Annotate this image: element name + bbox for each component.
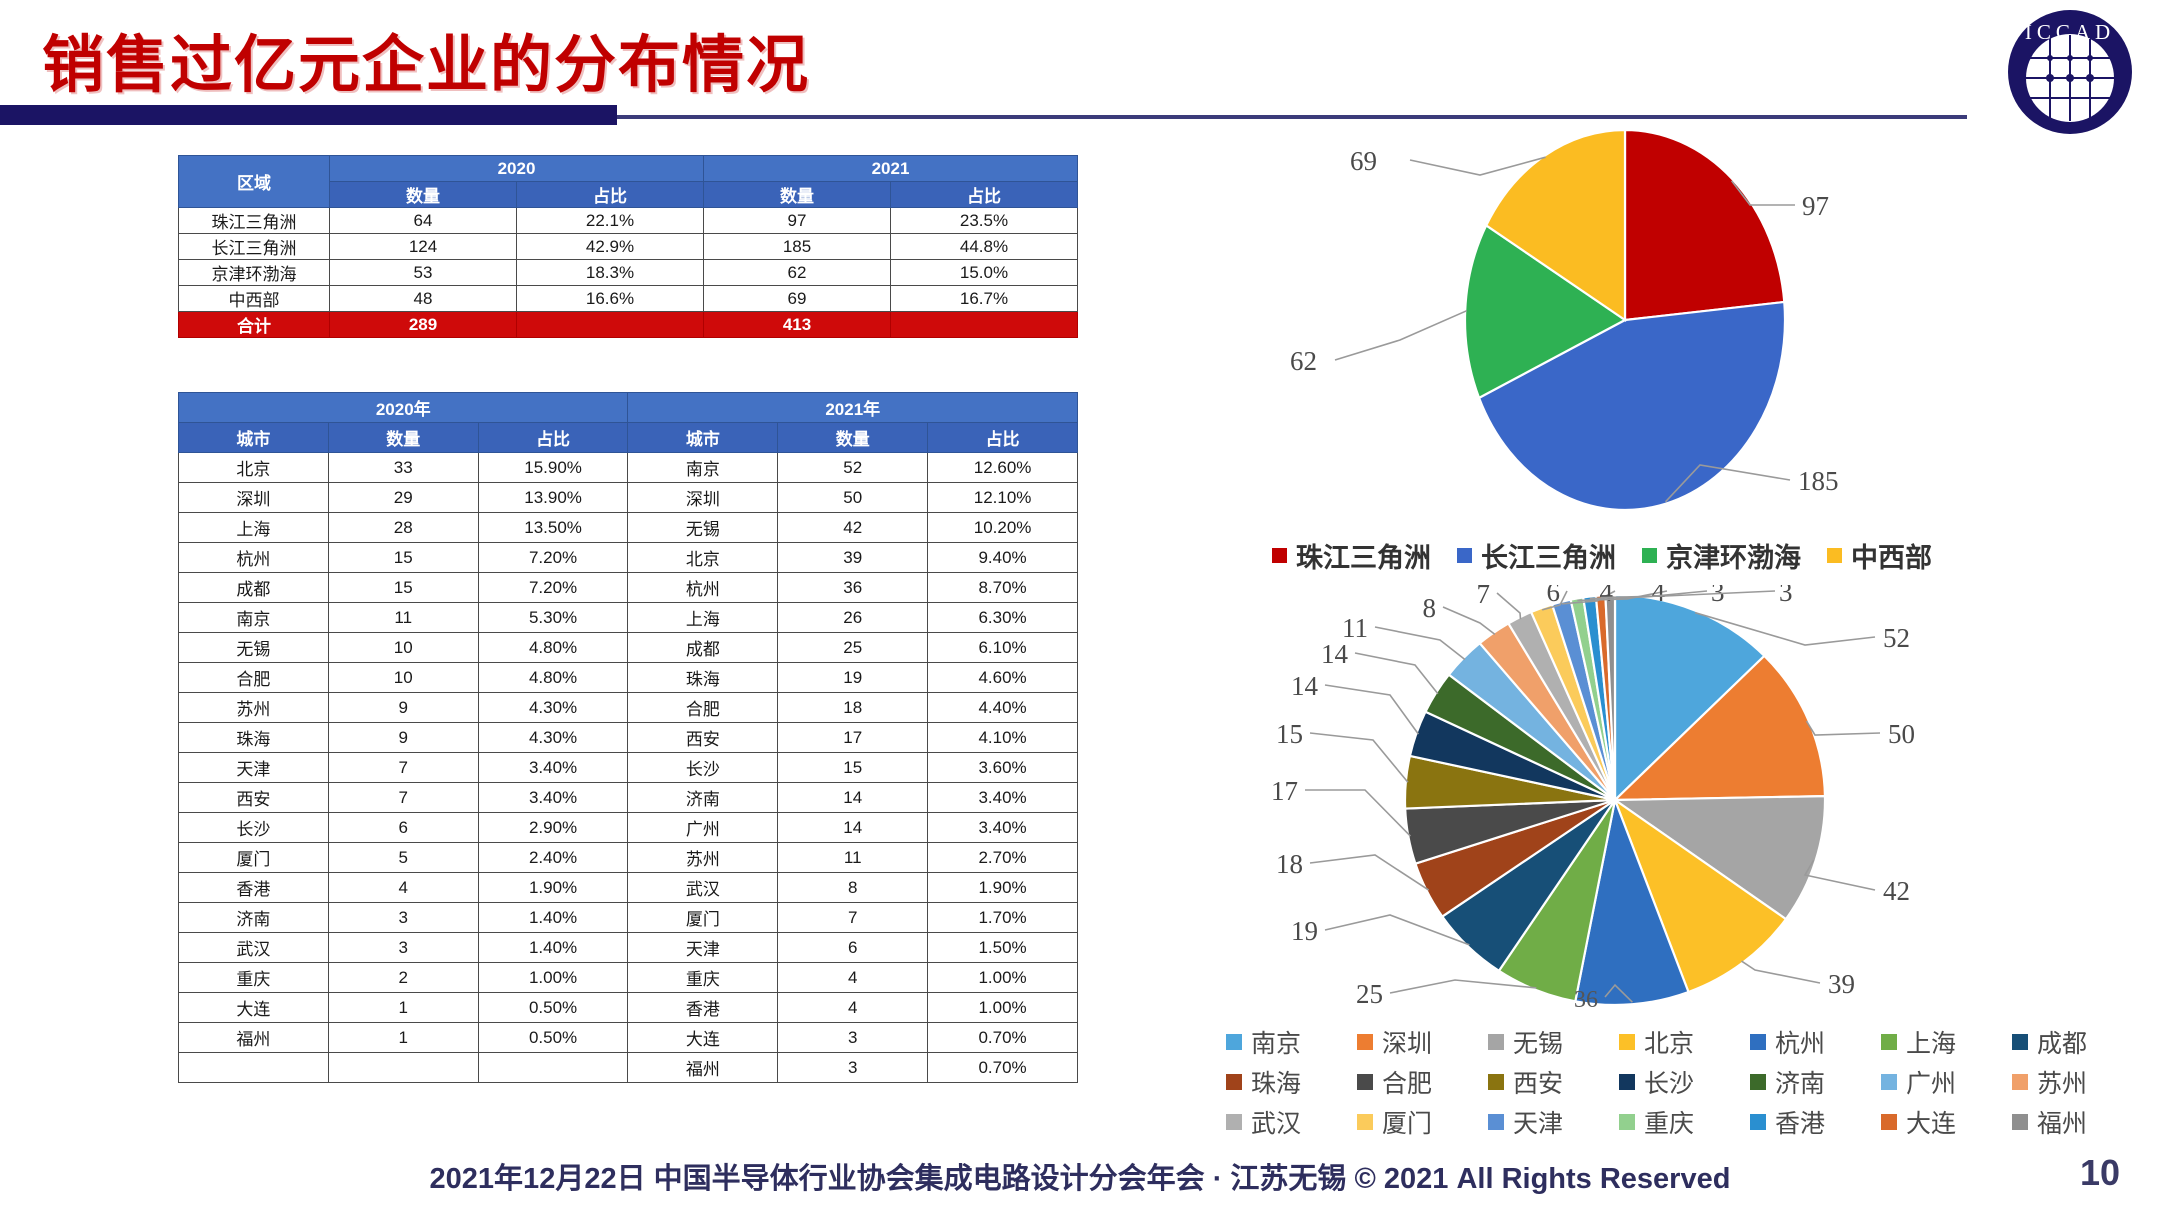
share-2020: 4.80% xyxy=(478,633,628,663)
legend-swatch-icon xyxy=(1357,1034,1373,1050)
legend-label: 成都 xyxy=(2037,1024,2087,1060)
city-2021: 西安 xyxy=(628,723,778,753)
svg-text:ICCAD: ICCAD xyxy=(2025,20,2115,44)
city-2020: 无锡 xyxy=(179,633,329,663)
table-row: 合肥104.80%珠海194.60% xyxy=(179,663,1078,693)
total-count-2020: 289 xyxy=(330,312,517,338)
table-row: 深圳2913.90%深圳5012.10% xyxy=(179,483,1078,513)
legend-label: 武汉 xyxy=(1251,1104,1301,1140)
share-2020: 2.40% xyxy=(478,843,628,873)
legend-label: 厦门 xyxy=(1382,1104,1432,1140)
region-pie-chart: 971856269 xyxy=(1230,125,2030,525)
city-2020: 香港 xyxy=(179,873,329,903)
count-2020: 64 xyxy=(330,208,517,234)
share-2020: 2.90% xyxy=(478,813,628,843)
share-2020: 15.90% xyxy=(478,453,628,483)
share-2021: 3.40% xyxy=(928,783,1078,813)
city-2020: 杭州 xyxy=(179,543,329,573)
share-2021: 1.00% xyxy=(928,993,1078,1023)
count-2021: 25 xyxy=(778,633,928,663)
city-2021: 成都 xyxy=(628,633,778,663)
table-row: 济南31.40%厦门71.70% xyxy=(179,903,1078,933)
city-2020: 厦门 xyxy=(179,843,329,873)
pie-data-label: 14 xyxy=(1321,639,1349,669)
pie-data-label: 11 xyxy=(1342,613,1368,643)
legend-item[interactable]: 京津环渤海 xyxy=(1642,536,1801,575)
legend-label: 大连 xyxy=(1906,1104,1956,1140)
count-2020: 10 xyxy=(328,663,478,693)
legend-label: 济南 xyxy=(1775,1064,1825,1100)
city-2021: 杭州 xyxy=(628,573,778,603)
legend-item[interactable]: 广州 xyxy=(1881,1064,2012,1100)
header-share-2020: 占比 xyxy=(517,182,704,208)
share-2021: 2.70% xyxy=(928,843,1078,873)
legend-swatch-icon xyxy=(1827,548,1842,563)
count-2021: 62 xyxy=(704,260,891,286)
total-share-2020 xyxy=(517,312,704,338)
pie-data-label: 69 xyxy=(1350,146,1377,176)
iccad-logo: ICCAD xyxy=(2004,6,2136,138)
count-2020: 7 xyxy=(328,783,478,813)
header-share-2020: 占比 xyxy=(478,423,628,453)
legend-item[interactable]: 珠江三角洲 xyxy=(1272,536,1431,575)
city-2021: 香港 xyxy=(628,993,778,1023)
legend-swatch-icon xyxy=(1488,1034,1504,1050)
legend-item[interactable]: 南京 xyxy=(1226,1024,1357,1060)
legend-item[interactable]: 武汉 xyxy=(1226,1104,1357,1140)
city-2020: 长沙 xyxy=(179,813,329,843)
total-count-2021: 413 xyxy=(704,312,891,338)
legend-label: 杭州 xyxy=(1775,1024,1825,1060)
city-2020 xyxy=(179,1053,329,1083)
city-2021: 大连 xyxy=(628,1023,778,1053)
legend-swatch-icon xyxy=(1750,1074,1766,1090)
legend-label: 重庆 xyxy=(1644,1104,1694,1140)
count-2020: 15 xyxy=(328,573,478,603)
legend-swatch-icon xyxy=(1457,548,1472,563)
city-2021: 珠海 xyxy=(628,663,778,693)
legend-item[interactable]: 苏州 xyxy=(2012,1064,2143,1100)
share-2021: 23.5% xyxy=(891,208,1078,234)
share-2021: 9.40% xyxy=(928,543,1078,573)
city-2021: 南京 xyxy=(628,453,778,483)
table-row: 杭州157.20%北京399.40% xyxy=(179,543,1078,573)
pie-slice[interactable] xyxy=(1625,130,1784,320)
table-row: 珠海94.30%西安174.10% xyxy=(179,723,1078,753)
legend-label: 长江三角洲 xyxy=(1481,536,1616,575)
city-2020: 珠海 xyxy=(179,723,329,753)
header-count-2021: 数量 xyxy=(778,423,928,453)
table-row: 厦门52.40%苏州112.70% xyxy=(179,843,1078,873)
count-2021: 19 xyxy=(778,663,928,693)
share-2020: 1.90% xyxy=(478,873,628,903)
legend-label: 珠海 xyxy=(1251,1064,1301,1100)
city-2021: 上海 xyxy=(628,603,778,633)
table-row-total: 合计 289 413 xyxy=(179,312,1078,338)
legend-swatch-icon xyxy=(1272,548,1287,563)
count-2020: 9 xyxy=(328,723,478,753)
count-2021: 3 xyxy=(778,1053,928,1083)
pie-data-label: 25 xyxy=(1356,979,1383,1009)
header-year-2021: 2021 xyxy=(704,156,1078,182)
city-2021: 长沙 xyxy=(628,753,778,783)
legend-swatch-icon xyxy=(1881,1074,1897,1090)
share-2021: 0.70% xyxy=(928,1053,1078,1083)
legend-swatch-icon xyxy=(1357,1074,1373,1090)
city-2020: 合肥 xyxy=(179,663,329,693)
count-2020: 4 xyxy=(328,873,478,903)
header-share-2021: 占比 xyxy=(891,182,1078,208)
count-2021: 4 xyxy=(778,963,928,993)
share-2021: 44.8% xyxy=(891,234,1078,260)
legend-label: 无锡 xyxy=(1513,1024,1563,1060)
city-2020: 上海 xyxy=(179,513,329,543)
pie-data-label: 19 xyxy=(1291,916,1318,946)
pie-data-label: 185 xyxy=(1798,466,1839,496)
city-2021: 济南 xyxy=(628,783,778,813)
share-2020: 0.50% xyxy=(478,993,628,1023)
share-2021: 4.40% xyxy=(928,693,1078,723)
legend-item[interactable]: 北京 xyxy=(1619,1024,1750,1060)
legend-item[interactable]: 珠海 xyxy=(1226,1064,1357,1100)
legend-swatch-icon xyxy=(1750,1034,1766,1050)
city-2020: 天津 xyxy=(179,753,329,783)
count-2021: 42 xyxy=(778,513,928,543)
legend-swatch-icon xyxy=(1619,1074,1635,1090)
pie-data-label: 15 xyxy=(1276,719,1303,749)
legend-label: 苏州 xyxy=(2037,1064,2087,1100)
count-2020: 28 xyxy=(328,513,478,543)
count-2020: 48 xyxy=(330,286,517,312)
legend-item[interactable]: 厦门 xyxy=(1357,1104,1488,1140)
share-2020: 7.20% xyxy=(478,573,628,603)
count-2020: 6 xyxy=(328,813,478,843)
count-2021: 3 xyxy=(778,1023,928,1053)
share-2020 xyxy=(478,1053,628,1083)
share-2020: 22.1% xyxy=(517,208,704,234)
pie-data-label: 4 xyxy=(1600,585,1614,607)
share-2021: 12.60% xyxy=(928,453,1078,483)
count-2020: 7 xyxy=(328,753,478,783)
region-name: 长江三角洲 xyxy=(179,234,330,260)
table-row: 成都157.20%杭州368.70% xyxy=(179,573,1078,603)
region-name: 珠江三角洲 xyxy=(179,208,330,234)
legend-swatch-icon xyxy=(1619,1034,1635,1050)
city-2020: 济南 xyxy=(179,903,329,933)
city-2020: 大连 xyxy=(179,993,329,1023)
table-row: 大连10.50%香港41.00% xyxy=(179,993,1078,1023)
share-2020: 13.90% xyxy=(478,483,628,513)
table-row: 武汉31.40%天津61.50% xyxy=(179,933,1078,963)
header-city-2021: 城市 xyxy=(628,423,778,453)
share-2021: 10.20% xyxy=(928,513,1078,543)
header-city-2020: 城市 xyxy=(179,423,329,453)
city-2021: 无锡 xyxy=(628,513,778,543)
city-2020: 苏州 xyxy=(179,693,329,723)
table-row: 福州30.70% xyxy=(179,1053,1078,1083)
table-row: 长沙62.90%广州143.40% xyxy=(179,813,1078,843)
city-distribution-table: 2020年 2021年 城市 数量 占比 城市 数量 占比 北京3315.90%… xyxy=(178,392,1078,1083)
share-2020: 42.9% xyxy=(517,234,704,260)
pie-data-label: 3 xyxy=(1779,585,1793,607)
legend-swatch-icon xyxy=(1226,1074,1242,1090)
count-2020: 10 xyxy=(328,633,478,663)
share-2020: 1.40% xyxy=(478,933,628,963)
header-region: 区域 xyxy=(179,156,330,208)
table-row: 无锡104.80%成都256.10% xyxy=(179,633,1078,663)
pie-data-label: 7 xyxy=(1477,585,1491,609)
pie-data-label: 18 xyxy=(1276,849,1303,879)
legend-item[interactable]: 中西部 xyxy=(1827,536,1932,575)
table-row: 香港41.90%武汉81.90% xyxy=(179,873,1078,903)
legend-item[interactable]: 长沙 xyxy=(1619,1064,1750,1100)
share-2020: 3.40% xyxy=(478,753,628,783)
city-2020: 重庆 xyxy=(179,963,329,993)
count-2021: 50 xyxy=(778,483,928,513)
table-subheader-row: 城市 数量 占比 城市 数量 占比 xyxy=(179,423,1078,453)
share-2021: 8.70% xyxy=(928,573,1078,603)
page-number: 10 xyxy=(2080,1152,2120,1194)
footer-text: 2021年12月22日 中国半导体行业协会集成电路设计分会年会 · 江苏无锡 ©… xyxy=(0,1155,2160,1197)
city-2021: 合肥 xyxy=(628,693,778,723)
city-2020: 南京 xyxy=(179,603,329,633)
table-header-row: 区域 2020 2021 xyxy=(179,156,1078,182)
share-2021: 15.0% xyxy=(891,260,1078,286)
legend-item[interactable]: 福州 xyxy=(2012,1104,2143,1140)
header-share-2021: 占比 xyxy=(928,423,1078,453)
count-2021: 39 xyxy=(778,543,928,573)
pie-data-label: 6 xyxy=(1547,585,1561,607)
legend-label: 西安 xyxy=(1513,1064,1563,1100)
legend-item[interactable]: 重庆 xyxy=(1619,1104,1750,1140)
count-2020: 124 xyxy=(330,234,517,260)
share-2021: 1.70% xyxy=(928,903,1078,933)
legend-item[interactable]: 香港 xyxy=(1750,1104,1881,1140)
share-2021: 0.70% xyxy=(928,1023,1078,1053)
share-2020: 1.00% xyxy=(478,963,628,993)
count-2021: 14 xyxy=(778,783,928,813)
header-count-2021: 数量 xyxy=(704,182,891,208)
share-2021: 1.00% xyxy=(928,963,1078,993)
legend-item[interactable]: 天津 xyxy=(1488,1104,1619,1140)
count-2021: 14 xyxy=(778,813,928,843)
pie-data-label: 52 xyxy=(1883,623,1910,653)
region-pie-legend: 珠江三角洲长江三角洲京津环渤海中西部 xyxy=(1272,536,1972,575)
total-label: 合计 xyxy=(179,312,330,338)
share-2021: 3.60% xyxy=(928,753,1078,783)
title-rule-thin xyxy=(617,115,1967,119)
count-2020: 9 xyxy=(328,693,478,723)
share-2021: 4.10% xyxy=(928,723,1078,753)
page-title: 销售过亿元企业的分布情况 xyxy=(42,14,810,104)
legend-swatch-icon xyxy=(1881,1114,1897,1130)
pie-data-label: 17 xyxy=(1271,776,1298,806)
count-2020: 1 xyxy=(328,993,478,1023)
table-row: 重庆21.00%重庆41.00% xyxy=(179,963,1078,993)
count-2021: 7 xyxy=(778,903,928,933)
count-2021: 6 xyxy=(778,933,928,963)
city-2020: 西安 xyxy=(179,783,329,813)
count-2021: 69 xyxy=(704,286,891,312)
table-row: 福州10.50%大连30.70% xyxy=(179,1023,1078,1053)
legend-swatch-icon xyxy=(1488,1074,1504,1090)
legend-label: 合肥 xyxy=(1382,1064,1432,1100)
legend-label: 长沙 xyxy=(1644,1064,1694,1100)
city-pie-chart: 525042393625191817151414118764433 xyxy=(1215,585,2095,1010)
share-2021: 12.10% xyxy=(928,483,1078,513)
region-distribution-table: 区域 2020 2021 数量 占比 数量 占比 珠江三角洲6422.1%972… xyxy=(178,155,1078,338)
legend-swatch-icon xyxy=(1750,1114,1766,1130)
legend-item[interactable]: 西安 xyxy=(1488,1064,1619,1100)
share-2020: 4.80% xyxy=(478,663,628,693)
city-2021: 天津 xyxy=(628,933,778,963)
table-row: 北京3315.90%南京5212.60% xyxy=(179,453,1078,483)
city-2020: 北京 xyxy=(179,453,329,483)
city-2021: 福州 xyxy=(628,1053,778,1083)
legend-swatch-icon xyxy=(2012,1074,2028,1090)
legend-label: 京津环渤海 xyxy=(1666,536,1801,575)
table-row: 上海2813.50%无锡4210.20% xyxy=(179,513,1078,543)
header-count-2020: 数量 xyxy=(328,423,478,453)
legend-item[interactable]: 长江三角洲 xyxy=(1457,536,1616,575)
legend-label: 南京 xyxy=(1251,1024,1301,1060)
pie-data-label: 42 xyxy=(1883,876,1910,906)
legend-label: 中西部 xyxy=(1851,536,1932,575)
legend-swatch-icon xyxy=(1642,548,1657,563)
legend-item[interactable]: 无锡 xyxy=(1488,1024,1619,1060)
share-2020: 5.30% xyxy=(478,603,628,633)
legend-label: 福州 xyxy=(2037,1104,2087,1140)
region-name: 中西部 xyxy=(179,286,330,312)
legend-swatch-icon xyxy=(2012,1114,2028,1130)
share-2020: 3.40% xyxy=(478,783,628,813)
legend-item[interactable]: 合肥 xyxy=(1357,1064,1488,1100)
city-2021: 重庆 xyxy=(628,963,778,993)
table-row: 长江三角洲12442.9%18544.8% xyxy=(179,234,1078,260)
legend-swatch-icon xyxy=(1881,1034,1897,1050)
table-row: 苏州94.30%合肥184.40% xyxy=(179,693,1078,723)
header-year-2020: 2020 xyxy=(330,156,704,182)
share-2020: 18.3% xyxy=(517,260,704,286)
pie-data-label: 97 xyxy=(1802,191,1829,221)
count-2020: 53 xyxy=(330,260,517,286)
count-2021: 26 xyxy=(778,603,928,633)
legend-swatch-icon xyxy=(1226,1114,1242,1130)
header-count-2020: 数量 xyxy=(330,182,517,208)
city-2021: 深圳 xyxy=(628,483,778,513)
legend-label: 广州 xyxy=(1906,1064,1956,1100)
count-2020: 33 xyxy=(328,453,478,483)
legend-item[interactable]: 杭州 xyxy=(1750,1024,1881,1060)
count-2021: 97 xyxy=(704,208,891,234)
title-rule-thick xyxy=(0,105,617,125)
city-2020: 成都 xyxy=(179,573,329,603)
pie-data-label: 62 xyxy=(1290,346,1317,376)
share-2020: 4.30% xyxy=(478,693,628,723)
count-2021: 15 xyxy=(778,753,928,783)
table-header-row: 2020年 2021年 xyxy=(179,393,1078,423)
count-2021: 18 xyxy=(778,693,928,723)
share-2020: 13.50% xyxy=(478,513,628,543)
share-2021: 6.10% xyxy=(928,633,1078,663)
region-name: 京津环渤海 xyxy=(179,260,330,286)
pie-data-label: 8 xyxy=(1423,593,1437,623)
count-2021: 11 xyxy=(778,843,928,873)
count-2021: 8 xyxy=(778,873,928,903)
table-row: 中西部4816.6%6916.7% xyxy=(179,286,1078,312)
legend-swatch-icon xyxy=(1357,1114,1373,1130)
pie-data-label: 3 xyxy=(1711,585,1725,607)
legend-item[interactable]: 大连 xyxy=(1881,1104,2012,1140)
pie-data-label: 39 xyxy=(1828,969,1855,999)
legend-label: 珠江三角洲 xyxy=(1296,536,1431,575)
share-2020: 1.40% xyxy=(478,903,628,933)
legend-swatch-icon xyxy=(1226,1034,1242,1050)
count-2020: 1 xyxy=(328,1023,478,1053)
table-row: 京津环渤海5318.3%6215.0% xyxy=(179,260,1078,286)
legend-item[interactable]: 深圳 xyxy=(1357,1024,1488,1060)
table-row: 珠江三角洲6422.1%9723.5% xyxy=(179,208,1078,234)
pie-data-label: 36 xyxy=(1574,987,1598,1010)
table-row: 西安73.40%济南143.40% xyxy=(179,783,1078,813)
city-2021: 苏州 xyxy=(628,843,778,873)
city-2021: 武汉 xyxy=(628,873,778,903)
table-row: 南京115.30%上海266.30% xyxy=(179,603,1078,633)
total-share-2021 xyxy=(891,312,1078,338)
city-2021: 厦门 xyxy=(628,903,778,933)
count-2021: 36 xyxy=(778,573,928,603)
pie-data-label: 50 xyxy=(1888,719,1915,749)
share-2020: 7.20% xyxy=(478,543,628,573)
count-2021: 185 xyxy=(704,234,891,260)
legend-label: 北京 xyxy=(1644,1024,1694,1060)
legend-label: 香港 xyxy=(1775,1104,1825,1140)
share-2021: 1.90% xyxy=(928,873,1078,903)
count-2020: 5 xyxy=(328,843,478,873)
city-2021: 北京 xyxy=(628,543,778,573)
share-2021: 1.50% xyxy=(928,933,1078,963)
legend-swatch-icon xyxy=(1619,1114,1635,1130)
share-2021: 3.40% xyxy=(928,813,1078,843)
legend-item[interactable]: 济南 xyxy=(1750,1064,1881,1100)
count-2020: 11 xyxy=(328,603,478,633)
legend-swatch-icon xyxy=(2012,1034,2028,1050)
header-year-2021: 2021年 xyxy=(628,393,1078,423)
share-2020: 4.30% xyxy=(478,723,628,753)
city-pie-legend: 南京深圳无锡北京杭州上海成都珠海合肥西安长沙济南广州苏州武汉厦门天津重庆香港大连… xyxy=(1226,1022,2156,1142)
legend-label: 上海 xyxy=(1906,1024,1956,1060)
count-2020: 29 xyxy=(328,483,478,513)
share-2020: 0.50% xyxy=(478,1023,628,1053)
share-2021: 4.60% xyxy=(928,663,1078,693)
city-2020: 福州 xyxy=(179,1023,329,1053)
table-row: 天津73.40%长沙153.60% xyxy=(179,753,1078,783)
count-2020: 2 xyxy=(328,963,478,993)
city-2020: 武汉 xyxy=(179,933,329,963)
pie-data-label: 14 xyxy=(1291,671,1319,701)
legend-item[interactable]: 成都 xyxy=(2012,1024,2143,1060)
share-2020: 16.6% xyxy=(517,286,704,312)
legend-label: 深圳 xyxy=(1382,1024,1432,1060)
legend-item[interactable]: 上海 xyxy=(1881,1024,2012,1060)
count-2020 xyxy=(328,1053,478,1083)
count-2020: 3 xyxy=(328,933,478,963)
header-year-2020: 2020年 xyxy=(179,393,628,423)
count-2021: 52 xyxy=(778,453,928,483)
count-2021: 17 xyxy=(778,723,928,753)
count-2020: 15 xyxy=(328,543,478,573)
count-2020: 3 xyxy=(328,903,478,933)
